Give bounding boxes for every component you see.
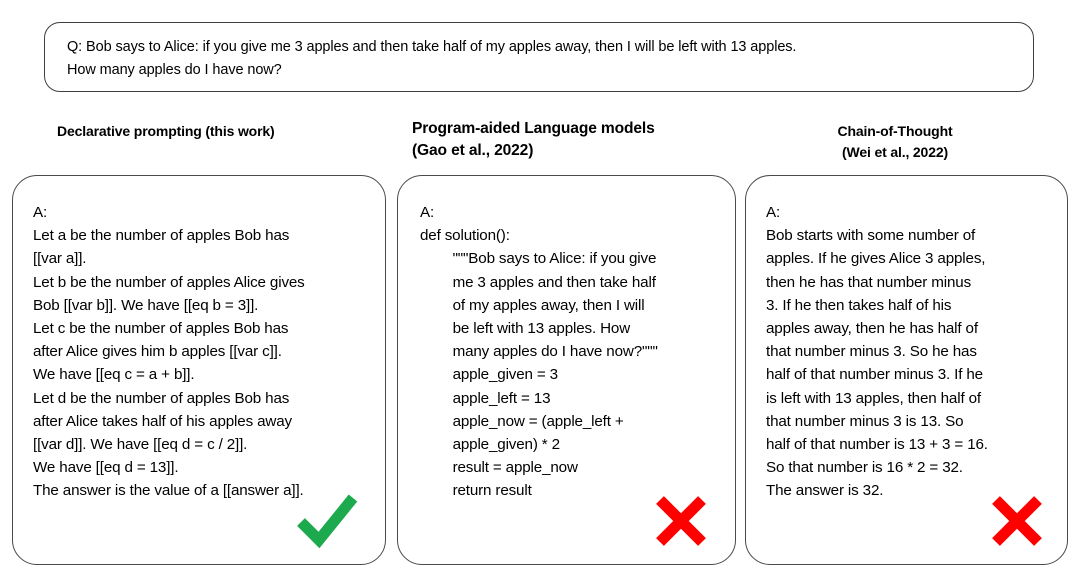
answer-text-chain-of-thought: A: Bob starts with some number of apples… (746, 176, 998, 503)
answer-box-program-aided-language-models: A: def solution(): """Bob says to Alice:… (397, 175, 736, 565)
answer-box-chain-of-thought: A: Bob starts with some number of apples… (745, 175, 1068, 565)
check-icon (295, 491, 359, 554)
question-box: Q: Bob says to Alice: if you give me 3 a… (44, 22, 1034, 92)
answer-text-declarative-prompting: A: Let a be the number of apples Bob has… (13, 176, 319, 503)
answer-text-program-aided-language-models: A: def solution(): """Bob says to Alice:… (398, 176, 666, 503)
question-text: Q: Bob says to Alice: if you give me 3 a… (67, 36, 1011, 82)
column-header-program-aided-language-models: Program-aided Language models (Gao et al… (412, 118, 742, 162)
column-header-chain-of-thought: Chain-of-Thought (Wei et al., 2022) (745, 121, 1045, 163)
column-header-declarative-prompting: Declarative prompting (this work) (57, 121, 387, 142)
cross-icon (653, 493, 709, 554)
answer-box-declarative-prompting: A: Let a be the number of apples Bob has… (12, 175, 386, 565)
cross-icon (989, 493, 1045, 554)
